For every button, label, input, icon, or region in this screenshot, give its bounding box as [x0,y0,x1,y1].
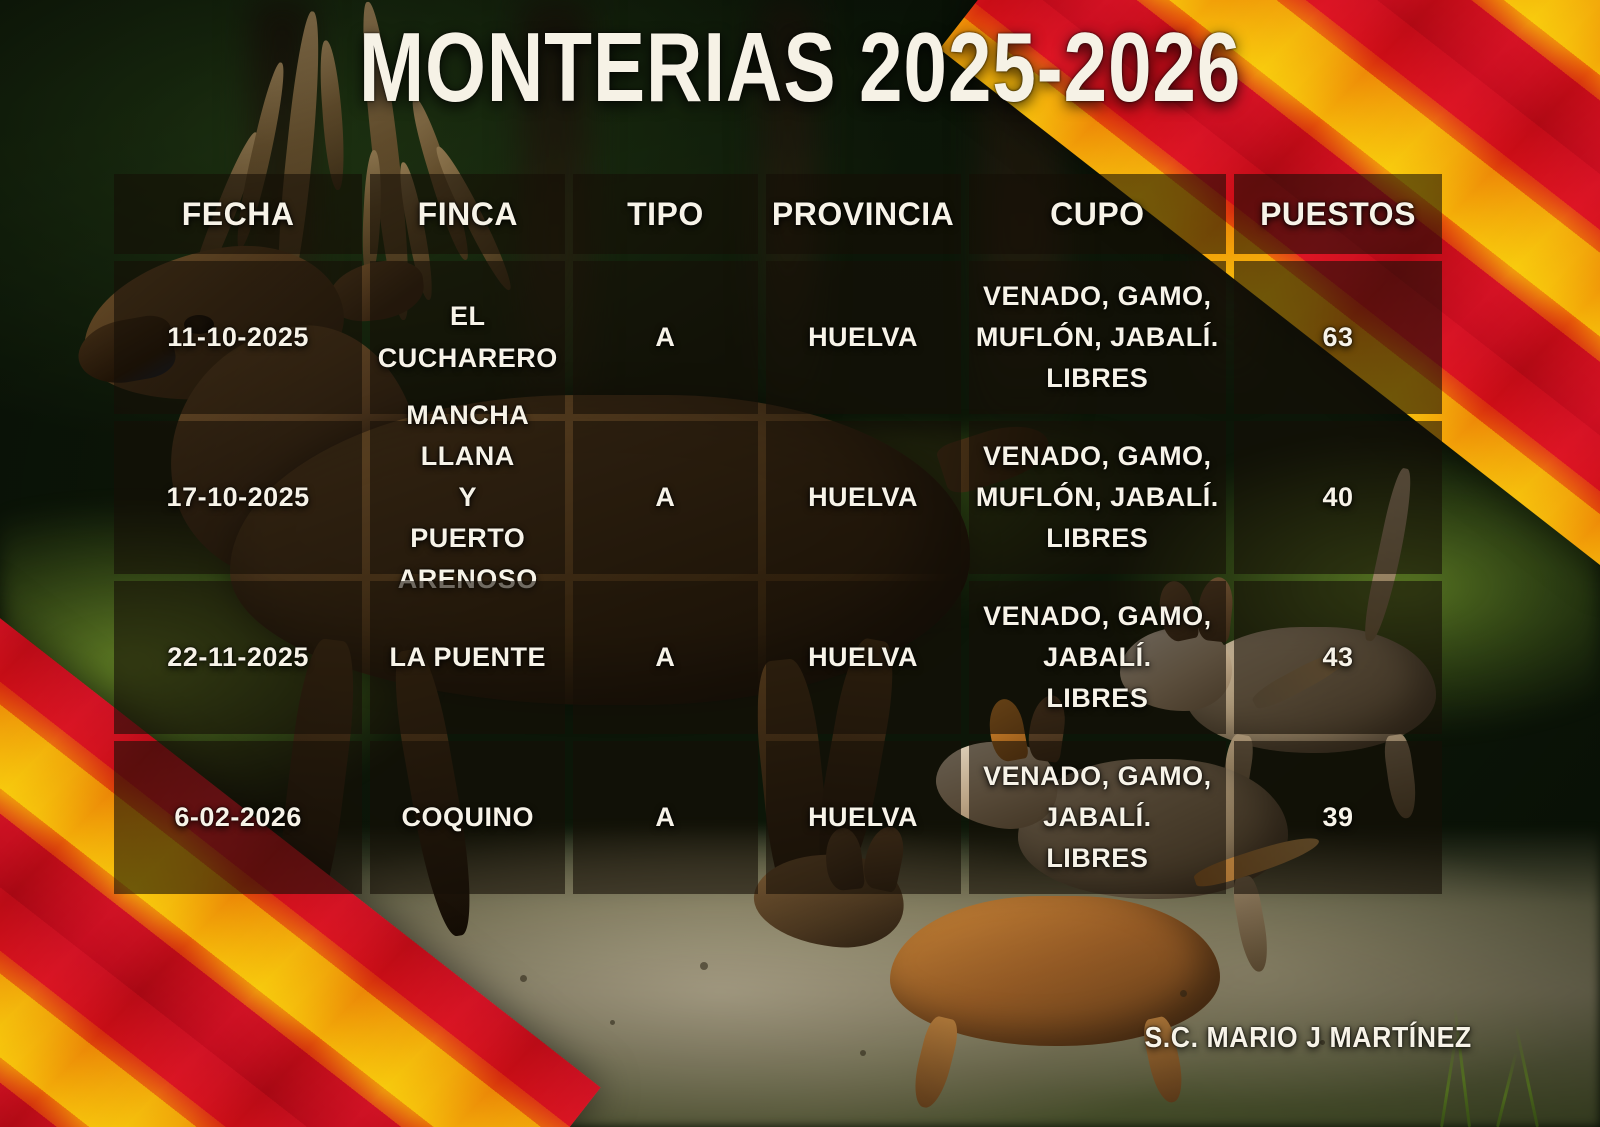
cell-finca: EL CUCHARERO [370,261,565,414]
cupo-lines: VENADO, GAMO,JABALÍ.LIBRES [983,756,1212,879]
text-line: MANCHA LLANA [376,395,559,477]
text-line: JABALÍ. [983,637,1212,678]
cell-puestos: 40 [1234,421,1442,574]
page-title: MONTERIAS 2025-2026 [160,18,1440,118]
finca-lines: MANCHA LLANAYPUERTO ARENOSO [376,395,559,600]
text-line: LA PUENTE [390,637,547,678]
text-line: LIBRES [983,838,1212,879]
text-line: LIBRES [976,358,1219,399]
cell-cupo: VENADO, GAMO,JABALÍ.LIBRES [969,581,1226,734]
cell-tipo: A [573,581,757,734]
cell-cupo: VENADO, GAMO,MUFLÓN, JABALÍ.LIBRES [969,261,1226,414]
cell-fecha: 11-10-2025 [114,261,362,414]
finca-lines: EL CUCHARERO [376,296,559,378]
table-row: 22-11-2025 LA PUENTE A HUELVA VENADO, GA… [114,581,1442,734]
column-header-fecha: FECHA [114,174,362,254]
text-line: VENADO, GAMO, [976,436,1219,477]
cell-finca: COQUINO [370,741,565,894]
text-line: MUFLÓN, JABALÍ. [976,317,1219,358]
cell-cupo: VENADO, GAMO,JABALÍ.LIBRES [969,741,1226,894]
cell-tipo: A [573,261,757,414]
cell-puestos: 63 [1234,261,1442,414]
column-header-cupo: CUPO [969,174,1226,254]
text-line: LIBRES [983,678,1212,719]
cell-provincia: HUELVA [766,581,961,734]
table-row: 17-10-2025 MANCHA LLANAYPUERTO ARENOSO A… [114,421,1442,574]
cell-provincia: HUELVA [766,421,961,574]
organizer-credit: S.C. MARIO J MARTÍNEZ [1145,1022,1472,1055]
cell-tipo: A [573,421,757,574]
cell-finca: MANCHA LLANAYPUERTO ARENOSO [370,421,565,574]
text-line: COQUINO [402,797,535,838]
cell-cupo: VENADO, GAMO,MUFLÓN, JABALÍ.LIBRES [969,421,1226,574]
finca-lines: COQUINO [402,797,535,838]
table-row: 6-02-2026 COQUINO A HUELVA VENADO, GAMO,… [114,741,1442,894]
text-line: VENADO, GAMO, [983,596,1212,637]
cell-fecha: 22-11-2025 [114,581,362,734]
poster-root: MONTERIAS 2025-2026 FECHA FINCA TIPO PRO… [0,0,1600,1127]
cell-puestos: 39 [1234,741,1442,894]
cell-fecha: 17-10-2025 [114,421,362,574]
table-body: 11-10-2025 EL CUCHARERO A HUELVA VENADO,… [114,261,1442,894]
monterias-schedule-table: FECHA FINCA TIPO PROVINCIA CUPO PUESTOS … [114,174,1442,901]
text-line: MUFLÓN, JABALÍ. [976,477,1219,518]
cupo-lines: VENADO, GAMO,MUFLÓN, JABALÍ.LIBRES [976,276,1219,399]
text-line: VENADO, GAMO, [976,276,1219,317]
column-header-finca: FINCA [370,174,565,254]
table-row: 11-10-2025 EL CUCHARERO A HUELVA VENADO,… [114,261,1442,414]
cupo-lines: VENADO, GAMO,JABALÍ.LIBRES [983,596,1212,719]
text-line: Y [376,477,559,518]
text-line: LIBRES [976,518,1219,559]
column-header-provincia: PROVINCIA [766,174,961,254]
table-header-row: FECHA FINCA TIPO PROVINCIA CUPO PUESTOS [114,174,1442,254]
text-line: VENADO, GAMO, [983,756,1212,797]
column-header-puestos: PUESTOS [1234,174,1442,254]
cell-provincia: HUELVA [766,741,961,894]
cell-provincia: HUELVA [766,261,961,414]
text-line: JABALÍ. [983,797,1212,838]
cell-fecha: 6-02-2026 [114,741,362,894]
poster-content: MONTERIAS 2025-2026 FECHA FINCA TIPO PRO… [0,0,1600,1127]
column-header-tipo: TIPO [573,174,757,254]
text-line: EL CUCHARERO [376,296,559,378]
cell-puestos: 43 [1234,581,1442,734]
finca-lines: LA PUENTE [390,637,547,678]
cupo-lines: VENADO, GAMO,MUFLÓN, JABALÍ.LIBRES [976,436,1219,559]
cell-tipo: A [573,741,757,894]
cell-finca: LA PUENTE [370,581,565,734]
